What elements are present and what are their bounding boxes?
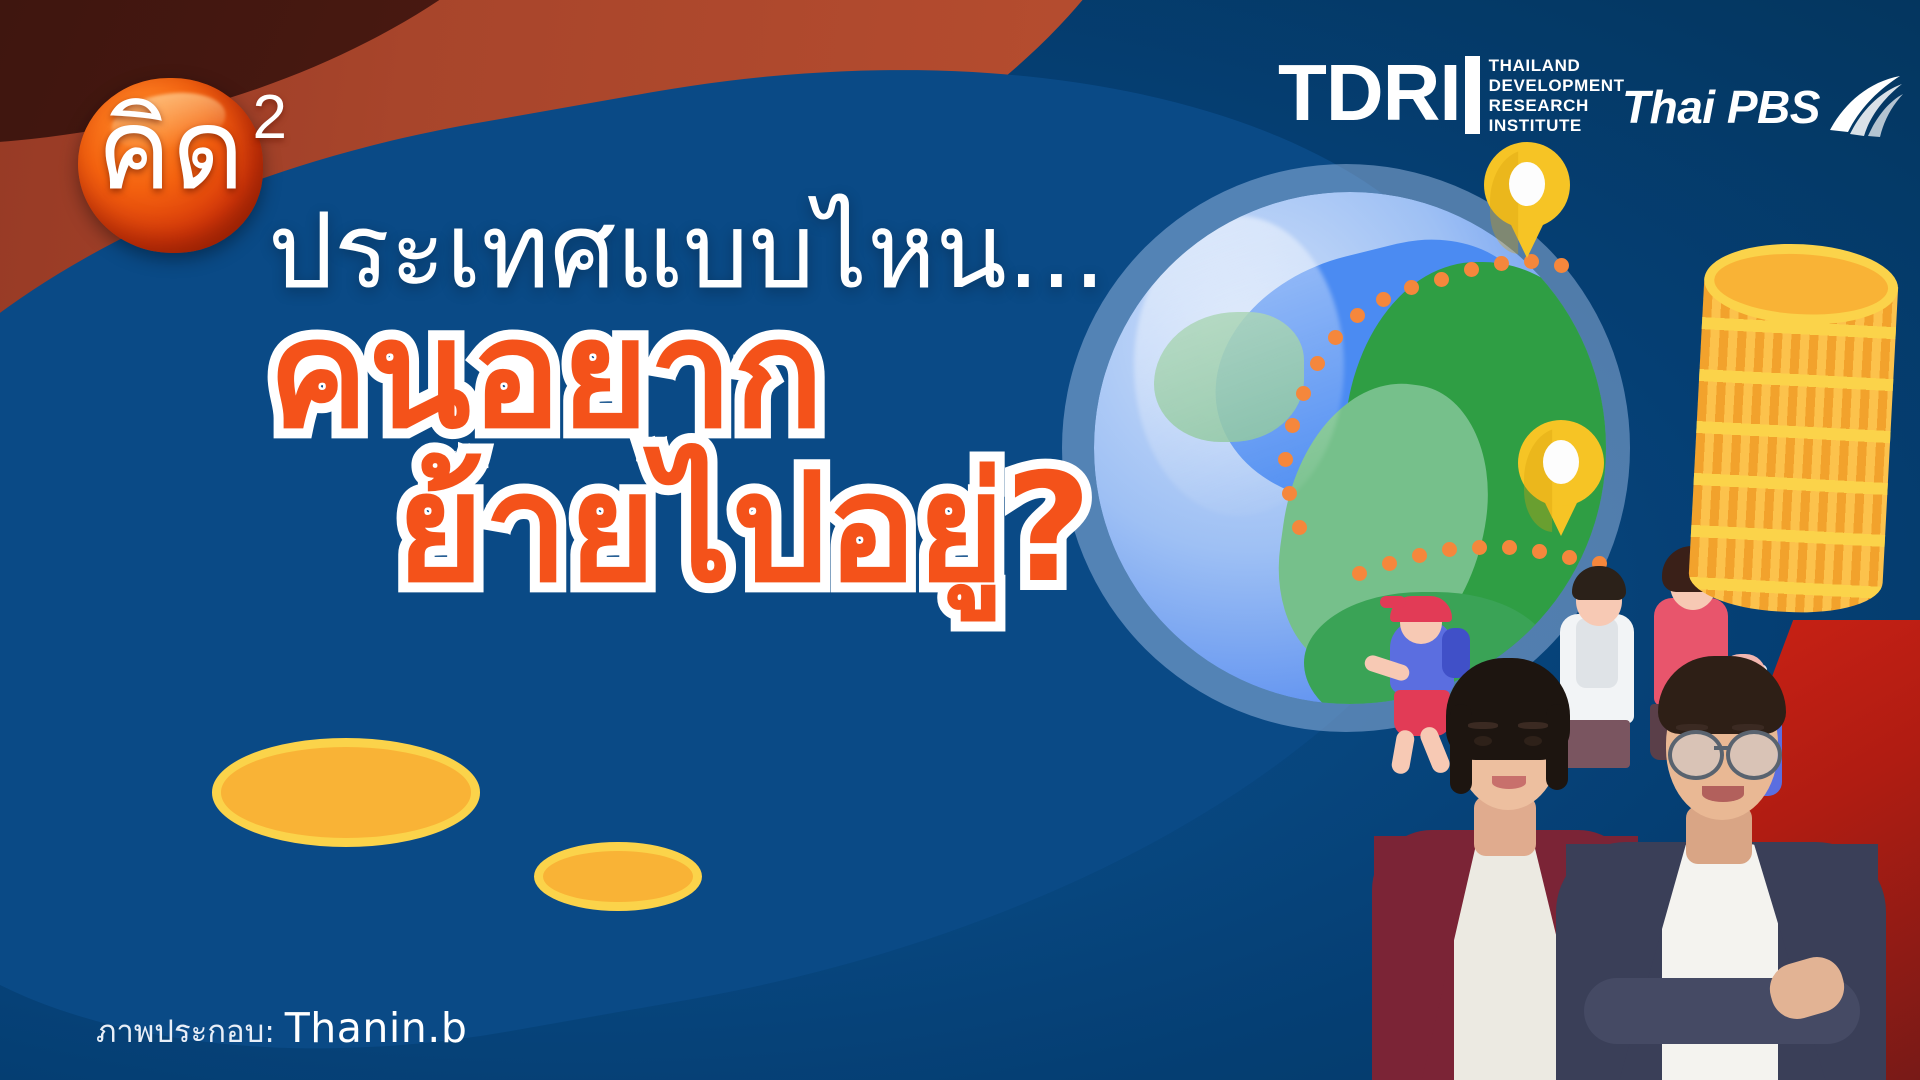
host-female-hair-side: [1450, 704, 1472, 794]
swoosh-bird-icon: [1824, 74, 1904, 140]
route-dot: [1472, 540, 1487, 555]
map-pin-hole: [1543, 440, 1579, 484]
tdri-line-3: RESEARCH: [1489, 97, 1625, 115]
kid-logo-superscript: 2: [253, 82, 287, 153]
route-dot: [1532, 544, 1547, 559]
map-pin-top: [1484, 142, 1570, 260]
program-cover-graphic: คิด 2 TDRI THAILAND DEVELOPMENT RESEARCH…: [0, 0, 1920, 1080]
route-dot: [1502, 540, 1517, 555]
tdri-wordmark: TDRI: [1278, 54, 1461, 136]
coin-small-left: [534, 842, 702, 954]
route-dot: [1434, 272, 1449, 287]
host-female-eye: [1474, 736, 1492, 746]
host-female-brow: [1468, 722, 1498, 729]
coin-face: [534, 842, 702, 911]
headline-line-2: คนอยาก: [268, 300, 1408, 450]
coin-stack-seams: [1687, 277, 1898, 617]
route-dot: [1412, 548, 1427, 563]
tdri-fullname: THAILAND DEVELOPMENT RESEARCH INSTITUTE: [1489, 54, 1625, 136]
host-female-eye: [1524, 736, 1542, 746]
coin-large-left: [212, 738, 480, 913]
tdri-logo: TDRI THAILAND DEVELOPMENT RESEARCH INSTI…: [1278, 54, 1625, 136]
eyeglasses-icon: [1726, 730, 1782, 780]
host-male-hair: [1658, 656, 1786, 734]
tdri-line-2: DEVELOPMENT: [1489, 77, 1625, 95]
coin-stack-right: [1688, 240, 1898, 640]
credit-artist: Thanin.b: [285, 1004, 468, 1052]
route-dot: [1554, 258, 1569, 273]
host-male-mouth: [1702, 786, 1744, 802]
headline-block: ประเทศแบบไหน... คนอยาก ย้ายไปอยู่?: [268, 196, 1408, 604]
host-female-mouth: [1492, 776, 1526, 789]
thaipbs-wordmark: Thai PBS: [1622, 80, 1820, 134]
eyeglasses-bridge: [1714, 746, 1728, 750]
host-female-brow: [1518, 722, 1548, 729]
tdri-line-4: INSTITUTE: [1489, 117, 1625, 135]
credit: ภาพประกอบ: Thanin.b: [96, 1004, 467, 1056]
headline-line-3: ย้ายไปอยู่?: [396, 454, 1408, 604]
route-dot: [1464, 262, 1479, 277]
kid-logo-text: คิด: [78, 94, 263, 206]
map-pin-hole: [1509, 162, 1545, 206]
credit-label: ภาพประกอบ:: [96, 1006, 275, 1056]
person-hair: [1572, 566, 1626, 600]
route-dot: [1442, 542, 1457, 557]
eyeglasses-icon: [1668, 730, 1724, 780]
host-male-shirt: [1662, 844, 1778, 1080]
host-photos: [1370, 630, 1920, 1080]
thaipbs-logo: Thai PBS: [1622, 74, 1904, 140]
host-male: [1556, 630, 1886, 1080]
tdri-line-1: THAILAND: [1489, 57, 1625, 75]
tdri-divider-bar: [1465, 56, 1480, 134]
map-pin-right: [1518, 420, 1604, 538]
coin-face: [212, 738, 480, 847]
kid-squared-logo: คิด 2: [78, 78, 263, 253]
